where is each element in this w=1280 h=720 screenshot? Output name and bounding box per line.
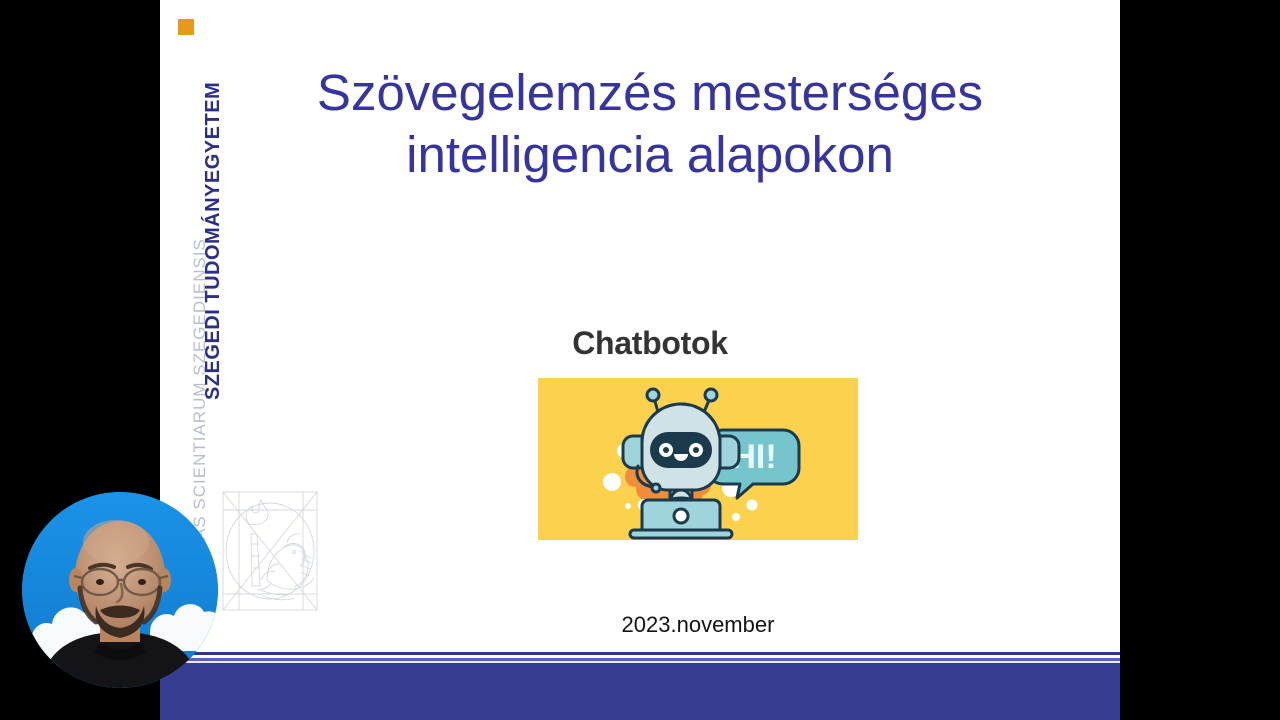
presenter-webcam-overlay[interactable] — [22, 492, 218, 688]
webcam-video — [22, 492, 218, 688]
title-line-2: intelligencia alapokon — [250, 124, 1050, 186]
slide-date: 2023.november — [548, 612, 848, 638]
video-frame: AS SCIENTIARUM SZEGEDIENSIS SZEGEDI TUDO… — [0, 0, 1280, 720]
footer-band — [160, 663, 1120, 720]
title-line-1: Szövegelemzés mesterséges — [250, 62, 1050, 124]
slide-subtitle: Chatbotok — [450, 325, 850, 362]
slide-title: Szövegelemzés mesterséges intelligencia … — [250, 62, 1050, 186]
chatbot-illustration: HI! — [538, 378, 858, 540]
university-seal-watermark-icon — [215, 472, 325, 632]
university-name: SZEGEDI TUDOMÁNYEGYETEM — [202, 82, 225, 400]
presentation-slide: AS SCIENTIARUM SZEGEDIENSIS SZEGEDI TUDO… — [160, 0, 1120, 720]
